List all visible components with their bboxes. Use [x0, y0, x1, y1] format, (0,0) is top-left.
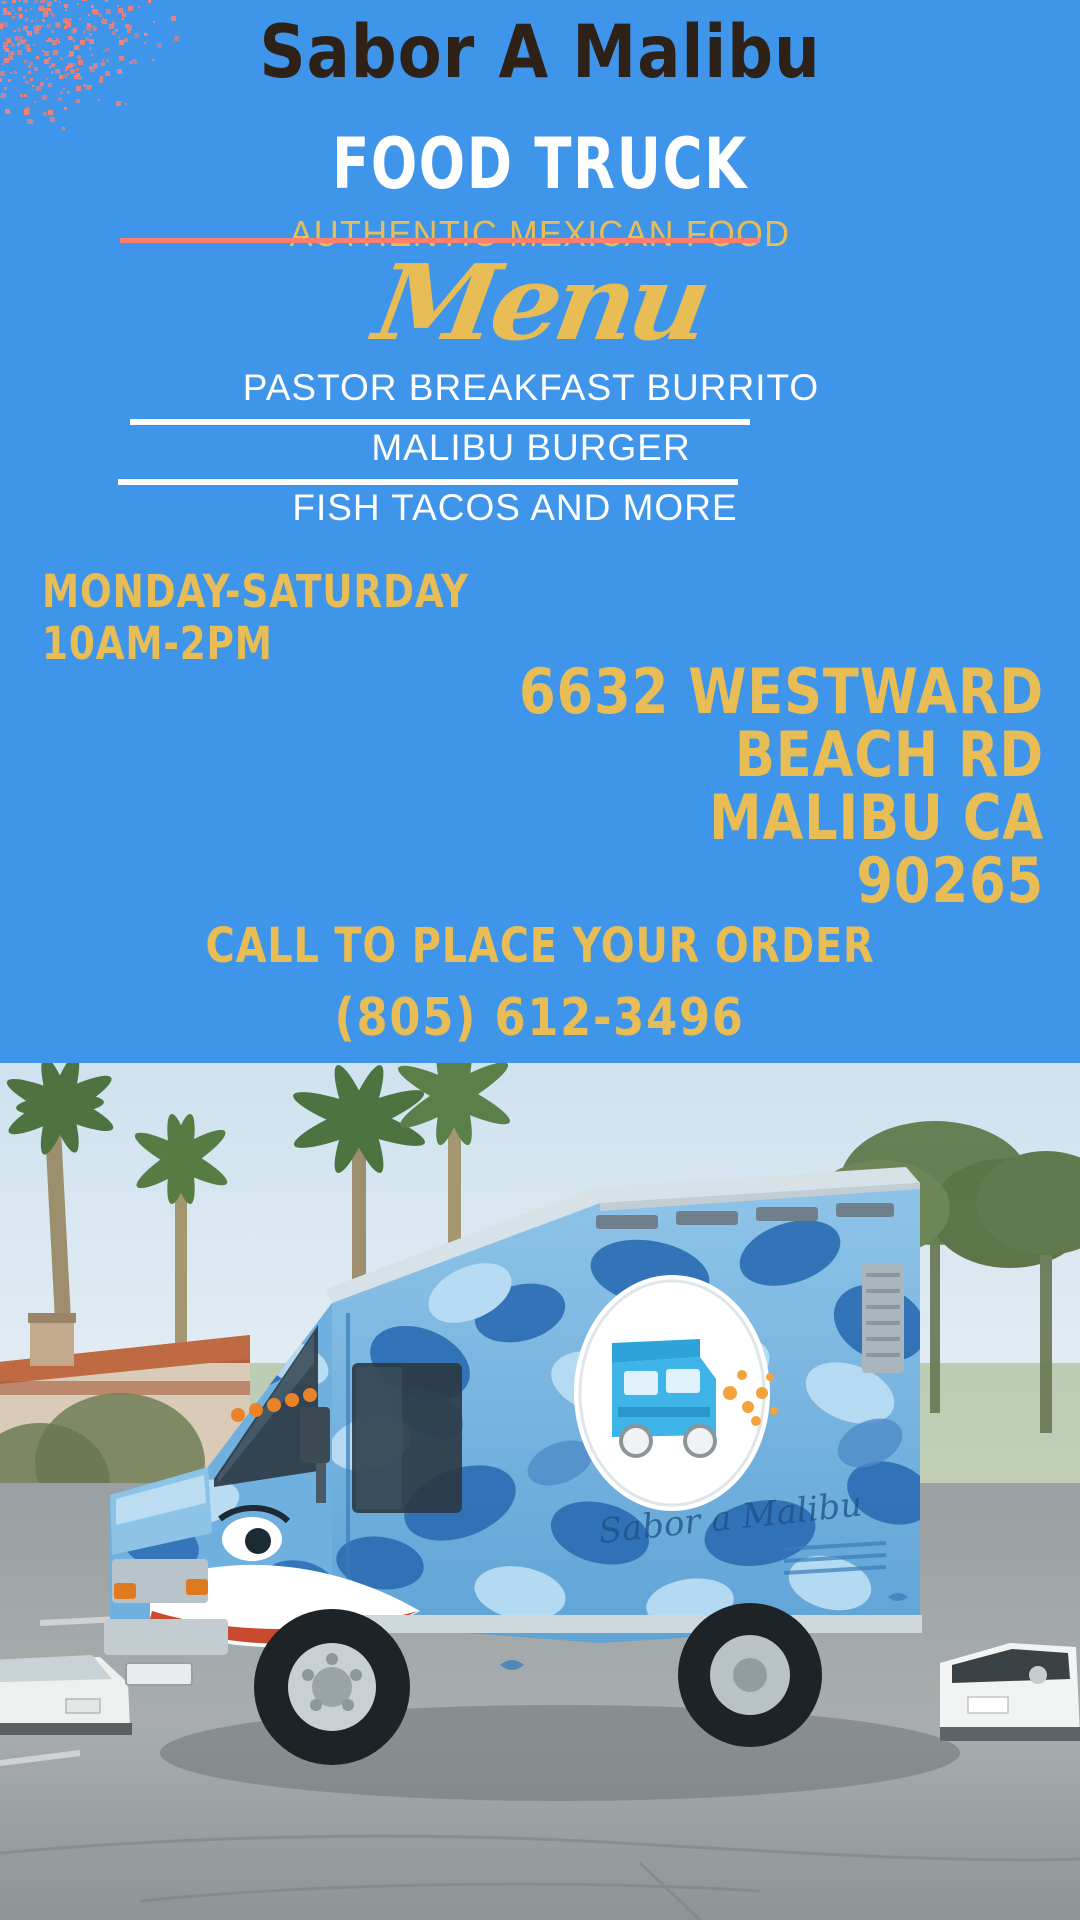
address-line-2: BEACH RD [517, 723, 1044, 786]
phone-number-text: (805) 612-3496 [335, 988, 745, 1048]
brand-title: Sabor A Malibu [65, 10, 1015, 96]
address-block: 6632 WESTWARD BEACH RD MALIBU CA 90265 [424, 660, 1044, 912]
address-line-4: 90265 [517, 849, 1044, 912]
flyer-header: Sabor A Malibu FOOD TRUCK AUTHENTIC MEXI… [0, 10, 1080, 256]
address-line-1: 6632 WESTWARD [517, 660, 1044, 723]
menu-item: FISH TACOS AND MORE [0, 485, 1080, 531]
menu-item: PASTOR BREAKFAST BURRITO [0, 365, 1080, 411]
hours-days: MONDAY-SATURDAY [42, 566, 469, 618]
call-to-action: CALL TO PLACE YOUR ORDER [0, 918, 1080, 974]
hours-block: MONDAY-SATURDAY 10AM-2PM [42, 566, 556, 670]
food-truck-photo-illustration: Sabor a Malibu [0, 1063, 1080, 1920]
menu-heading: Menu [0, 248, 1080, 358]
address-line-3: MALIBU CA [517, 786, 1044, 849]
food-truck-photo: Sabor a Malibu [0, 1063, 1080, 1920]
subtitle-food-truck: FOOD TRUCK [119, 124, 961, 204]
menu-item: MALIBU BURGER [0, 425, 1080, 471]
call-to-action-text: CALL TO PLACE YOUR ORDER [205, 918, 874, 974]
phone-number[interactable]: (805) 612-3496 [0, 988, 1080, 1048]
hours-time: 10AM-2PM [42, 618, 469, 670]
menu-list: PASTOR BREAKFAST BURRITO MALIBU BURGER F… [0, 365, 1080, 531]
flyer-root: Sabor A Malibu FOOD TRUCK AUTHENTIC MEXI… [0, 0, 1080, 1920]
